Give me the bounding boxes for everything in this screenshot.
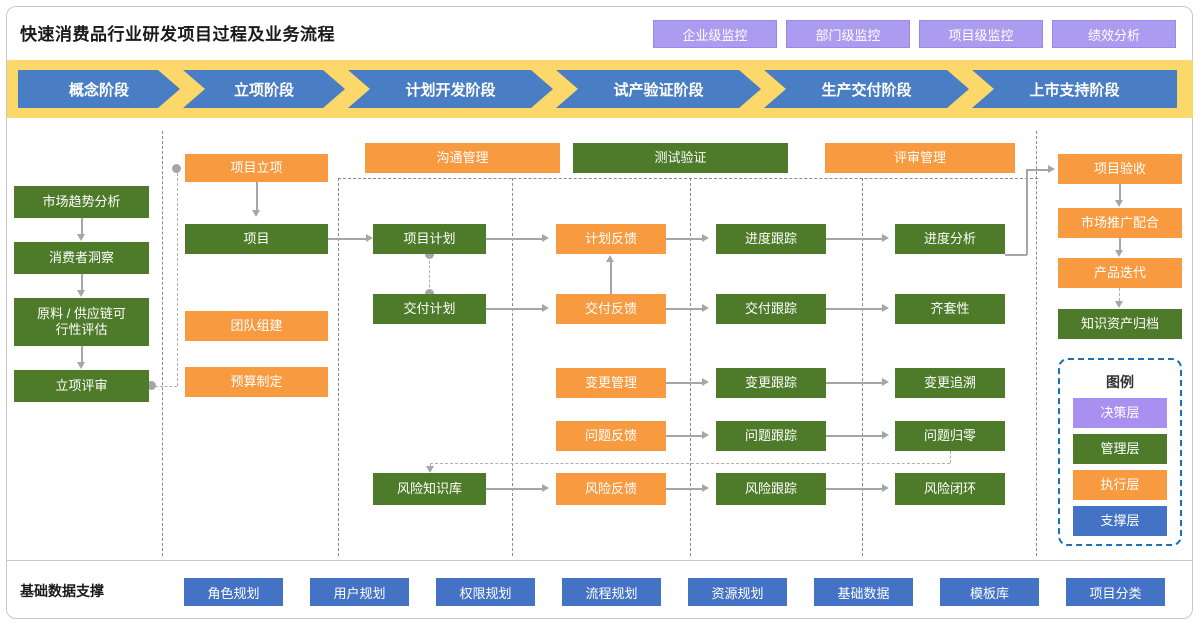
bottom-button-8[interactable]: 项目分类 — [1066, 578, 1165, 606]
arrow-deliveryfb-to-track — [702, 304, 709, 312]
connector-issue-to-track — [666, 435, 702, 437]
arrow-change-to-track — [702, 378, 709, 386]
dashed-review-right — [155, 386, 177, 387]
bottom-button-6[interactable]: 基础数据 — [814, 578, 913, 606]
monitor-button-1[interactable]: 企业级监控 — [653, 20, 777, 48]
legend-item-3: 执行层 — [1073, 470, 1167, 500]
connector-acceptance-to-promo — [1119, 184, 1121, 200]
bottom-button-1[interactable]: 角色规划 — [184, 578, 283, 606]
flow-node-11[interactable]: 变更跟踪 — [716, 368, 826, 398]
stage-arrow-3[interactable]: 计划开发阶段 — [348, 70, 553, 108]
concept-node-4[interactable]: 立项评审 — [14, 370, 149, 402]
lane-divider-4 — [690, 178, 691, 556]
initiation-node-4[interactable]: 预算制定 — [185, 367, 328, 397]
flow-node-6[interactable]: 变更管理 — [556, 368, 666, 398]
arrow-issue-to-track — [702, 431, 709, 439]
arrow-to-acceptance — [1048, 165, 1055, 173]
flow-node-17[interactable]: 问题归零 — [895, 421, 1005, 451]
dashed-zero-down — [950, 451, 951, 463]
monitor-button-2[interactable]: 部门级监控 — [786, 20, 910, 48]
flow-node-15[interactable]: 齐套性 — [895, 294, 1005, 324]
arrow-consumer-to-material — [77, 290, 85, 297]
dot-initiation-in — [172, 164, 181, 173]
launch-node-4[interactable]: 知识资产归档 — [1058, 309, 1182, 339]
launch-node-3[interactable]: 产品迭代 — [1058, 258, 1182, 288]
concept-node-2[interactable]: 消费者洞察 — [14, 242, 149, 274]
lane-divider-6 — [1036, 131, 1037, 556]
dashed-iterate-to-archive — [1119, 288, 1120, 301]
flow-node-18[interactable]: 风险闭环 — [895, 473, 1005, 505]
flow-node-13[interactable]: 风险跟踪 — [716, 473, 826, 505]
launch-node-2[interactable]: 市场推广配合 — [1058, 208, 1182, 238]
arrow-loop-to-riskkb — [426, 466, 434, 473]
dashed-plan-to-delivery — [429, 256, 430, 292]
arrow-promo-to-iterate — [1115, 250, 1123, 257]
arrow-market-to-consumer — [77, 234, 85, 241]
stage-arrow-6[interactable]: 上市支持阶段 — [972, 70, 1177, 108]
flow-node-3[interactable]: 风险知识库 — [373, 473, 486, 505]
legend-item-1: 决策层 — [1073, 398, 1167, 428]
flow-node-8[interactable]: 风险反馈 — [556, 473, 666, 505]
bottom-button-5[interactable]: 资源规划 — [688, 578, 787, 606]
concept-node-3[interactable]: 原料 / 供应链可 行性评估 — [14, 298, 149, 346]
connector-riskfb-to-track — [666, 488, 702, 490]
dashed-review-up — [177, 168, 178, 386]
arrow-risktrack-to-close — [882, 484, 889, 492]
stage-arrow-2[interactable]: 立项阶段 — [183, 70, 345, 108]
arrow-track-to-analysis — [882, 234, 889, 242]
connector-track-to-analysis — [826, 238, 882, 240]
initiation-node-1[interactable]: 项目立项 — [185, 154, 328, 182]
bottom-button-4[interactable]: 流程规划 — [562, 578, 661, 606]
flow-node-5[interactable]: 交付反馈 — [556, 294, 666, 324]
category-header-3[interactable]: 评审管理 — [825, 143, 1015, 173]
connector-promo-to-iterate — [1119, 238, 1121, 250]
arrow-deltrack-to-kit — [882, 304, 889, 312]
connector-material-to-review — [81, 346, 83, 362]
arrow-initiation-to-project — [252, 210, 260, 217]
lane-divider-1 — [162, 131, 163, 556]
connector-deliveryfb-to-track — [666, 308, 702, 310]
connector-deliveryfb-up — [610, 262, 612, 294]
connector-market-to-consumer — [81, 218, 83, 234]
connector-project-to-plan — [328, 238, 366, 240]
arrow-plan-to-planfb — [542, 234, 549, 242]
connector-to-acceptance — [1026, 169, 1048, 171]
connector-change-to-track — [666, 382, 702, 384]
connector-isstrack-to-zero — [826, 435, 882, 437]
arrow-planfb-to-track — [702, 234, 709, 242]
dashed-loop-back — [430, 463, 950, 464]
page-title: 快速消费品行业研发项目过程及业务流程 — [20, 20, 335, 45]
initiation-node-3[interactable]: 团队组建 — [185, 311, 328, 341]
bottom-button-7[interactable]: 模板库 — [940, 578, 1039, 606]
connector-chgtrack-to-trace — [826, 382, 882, 384]
bottom-divider — [7, 560, 1193, 561]
flow-node-1[interactable]: 项目计划 — [373, 224, 486, 254]
arrow-riskfb-to-track — [702, 484, 709, 492]
connector-planfb-to-track — [666, 238, 702, 240]
arrow-acceptance-to-promo — [1115, 200, 1123, 207]
connector-plan-to-planfb — [486, 238, 542, 240]
legend-item-2: 管理层 — [1073, 434, 1167, 464]
bottom-button-2[interactable]: 用户规划 — [310, 578, 409, 606]
arrow-iterate-to-archive — [1115, 301, 1123, 308]
legend-item-4: 支撑层 — [1073, 506, 1167, 536]
lane-divider-3 — [512, 178, 513, 556]
flow-node-7[interactable]: 问题反馈 — [556, 421, 666, 451]
connector-delivery-to-deliveryfb — [486, 308, 542, 310]
arrow-project-to-plan — [366, 234, 373, 242]
monitor-button-3[interactable]: 项目级监控 — [919, 20, 1043, 48]
initiation-node-2[interactable]: 项目 — [185, 224, 328, 254]
category-header-2[interactable]: 测试验证 — [573, 143, 788, 173]
connector-deltrack-to-kit — [826, 308, 882, 310]
connector-analysis-right — [1005, 254, 1027, 256]
flow-node-14[interactable]: 进度分析 — [895, 224, 1005, 254]
lane-divider-top — [338, 178, 1038, 179]
connector-riskkb-to-riskfb — [486, 488, 542, 490]
lane-divider-5 — [862, 178, 863, 556]
connector-consumer-to-material — [81, 274, 83, 290]
legend-title: 图例 — [1058, 372, 1182, 392]
concept-node-1[interactable]: 市场趋势分析 — [14, 186, 149, 218]
flow-node-16[interactable]: 变更追溯 — [895, 368, 1005, 398]
bottom-section-label: 基础数据支撑 — [20, 581, 104, 601]
lane-divider-2 — [338, 178, 339, 556]
flow-node-4[interactable]: 计划反馈 — [556, 224, 666, 254]
stage-arrow-4[interactable]: 试产验证阶段 — [556, 70, 761, 108]
arrow-riskkb-to-riskfb — [542, 484, 549, 492]
flow-node-2[interactable]: 交付计划 — [373, 294, 486, 324]
arrow-deliveryfb-up — [606, 255, 614, 262]
stage-arrow-1[interactable]: 概念阶段 — [18, 70, 180, 108]
flow-node-12[interactable]: 问题跟踪 — [716, 421, 826, 451]
monitor-button-4[interactable]: 绩效分析 — [1052, 20, 1176, 48]
bottom-button-3[interactable]: 权限规划 — [436, 578, 535, 606]
stage-arrow-5[interactable]: 生产交付阶段 — [764, 70, 969, 108]
connector-initiation-to-project — [256, 182, 258, 210]
category-header-1[interactable]: 沟通管理 — [365, 143, 560, 173]
connector-analysis-up — [1026, 169, 1028, 255]
launch-node-1[interactable]: 项目验收 — [1058, 154, 1182, 184]
arrow-chgtrack-to-trace — [882, 378, 889, 386]
connector-risktrack-to-close — [826, 488, 882, 490]
arrow-delivery-to-deliveryfb — [542, 304, 549, 312]
flow-node-10[interactable]: 交付跟踪 — [716, 294, 826, 324]
flow-node-9[interactable]: 进度跟踪 — [716, 224, 826, 254]
arrow-material-to-review — [77, 362, 85, 369]
arrow-isstrack-to-zero — [882, 431, 889, 439]
